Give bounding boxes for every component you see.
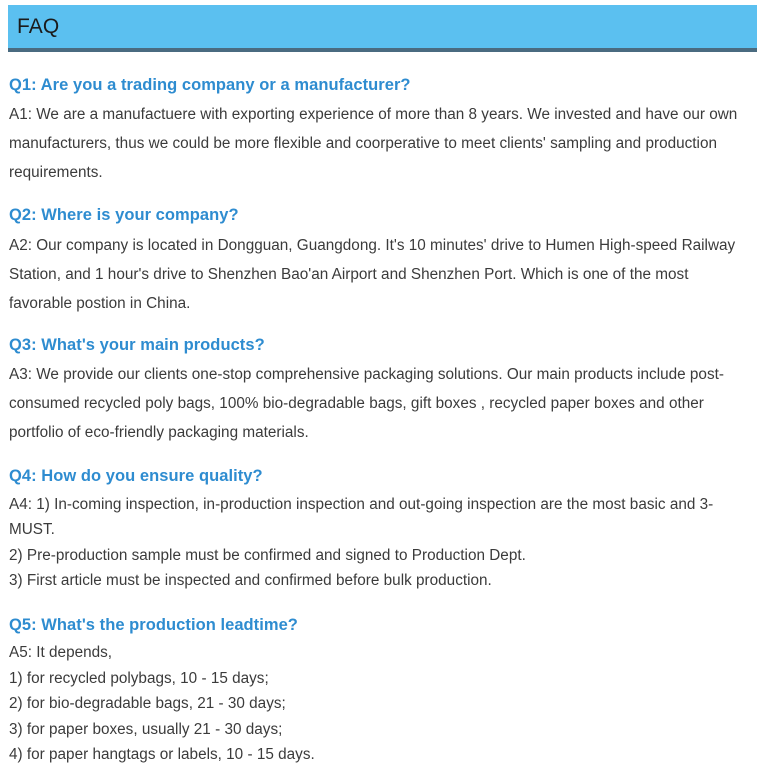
faq-answer-q4: A4: 1) In-coming inspection, in-producti… [9,492,755,594]
faq-item-q5: Q5: What's the production leadtime? A5: … [9,615,755,768]
faq-answer-line: 3) for paper boxes, usually 21 - 30 days… [9,717,755,743]
faq-question-q2: Q2: Where is your company? [9,205,755,226]
faq-item-q4: Q4: How do you ensure quality? A4: 1) In… [9,466,755,593]
faq-answer-q1: A1: We are a manufactuere with exporting… [9,100,755,187]
faq-answer-line: 3) First article must be inspected and c… [9,568,755,594]
faq-question-q4: Q4: How do you ensure quality? [9,466,755,487]
faq-answer-q2: A2: Our company is located in Dongguan, … [9,231,755,318]
faq-answer-line: A1: We are a manufactuere with exporting… [9,100,755,187]
faq-list: Q1: Are you a trading company or a manuf… [9,60,755,748]
faq-answer-line: 1) for recycled polybags, 10 - 15 days; [9,666,755,692]
faq-question-q1: Q1: Are you a trading company or a manuf… [9,75,755,96]
faq-answer-q3: A3: We provide our clients one-stop comp… [9,360,755,447]
faq-item-q1: Q1: Are you a trading company or a manuf… [9,75,755,187]
faq-question-q5: Q5: What's the production leadtime? [9,615,755,636]
faq-answer-q5: A5: It depends, 1) for recycled polybags… [9,640,755,768]
page-title: FAQ [8,16,59,37]
faq-item-q3: Q3: What's your main products? A3: We pr… [9,335,755,447]
faq-item-q2: Q2: Where is your company? A2: Our compa… [9,205,755,317]
faq-answer-line: A2: Our company is located in Dongguan, … [9,231,755,318]
faq-header-bar: FAQ [8,5,757,52]
faq-answer-line: A5: It depends, [9,640,755,666]
faq-answer-line: 4) for paper hangtags or labels, 10 - 15… [9,742,755,768]
faq-answer-line: A4: 1) In-coming inspection, in-producti… [9,492,755,543]
faq-answer-line: 2) for bio-degradable bags, 21 - 30 days… [9,691,755,717]
faq-answer-line: 2) Pre-production sample must be confirm… [9,543,755,569]
faq-page: FAQ Q1: Are you a trading company or a m… [0,0,765,748]
faq-question-q3: Q3: What's your main products? [9,335,755,356]
faq-answer-line: A3: We provide our clients one-stop comp… [9,360,755,447]
